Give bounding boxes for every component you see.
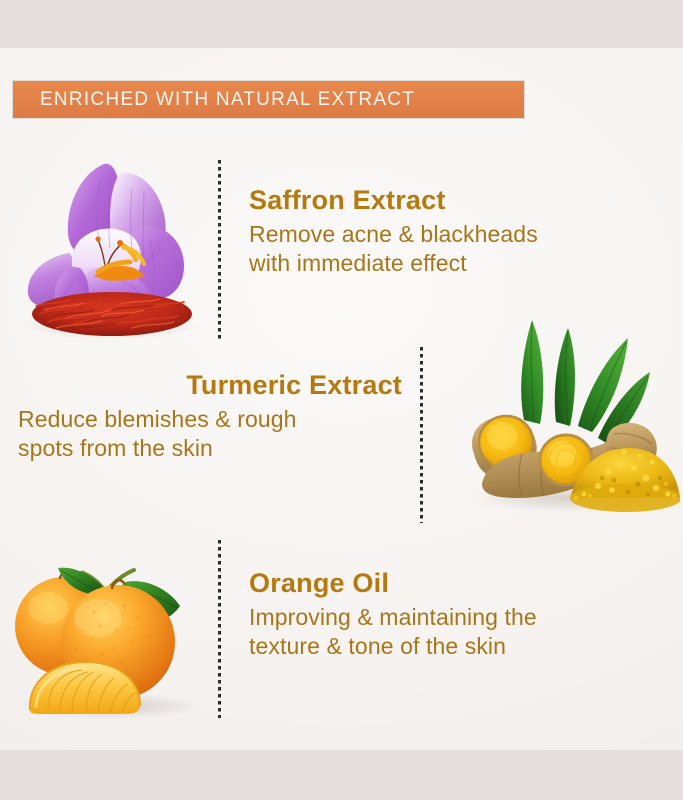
turmeric-root-image bbox=[452, 302, 680, 524]
header-banner: ENRICHED WITH NATURAL EXTRACT bbox=[12, 80, 525, 119]
section-turmeric: Turmeric Extract Reduce blemishes & roug… bbox=[18, 371, 402, 463]
section-turmeric-body-line2: spots from the skin bbox=[18, 434, 402, 463]
section-saffron-body-line1: Remove acne & blackheads bbox=[249, 220, 649, 249]
section-orange: Orange Oil Improving & maintaining the t… bbox=[249, 569, 649, 661]
section-turmeric-body-line1: Reduce blemishes & rough bbox=[18, 405, 402, 434]
section-orange-heading: Orange Oil bbox=[249, 569, 649, 599]
saffron-crocus-image bbox=[8, 148, 213, 343]
divider-orange bbox=[218, 540, 221, 718]
section-saffron: Saffron Extract Remove acne & blackheads… bbox=[249, 186, 649, 278]
section-turmeric-heading: Turmeric Extract bbox=[18, 371, 402, 401]
infographic-poster: ENRICHED WITH NATURAL EXTRACT bbox=[0, 0, 683, 800]
section-orange-body-line1: Improving & maintaining the bbox=[249, 603, 649, 632]
divider-saffron bbox=[218, 160, 221, 342]
section-orange-body-line2: texture & tone of the skin bbox=[249, 632, 649, 661]
orange-fruit-image bbox=[2, 542, 214, 722]
header-banner-text: ENRICHED WITH NATURAL EXTRACT bbox=[13, 89, 415, 111]
section-saffron-body-line2: with immediate effect bbox=[249, 249, 649, 278]
divider-turmeric bbox=[420, 347, 423, 523]
section-saffron-heading: Saffron Extract bbox=[249, 186, 649, 216]
